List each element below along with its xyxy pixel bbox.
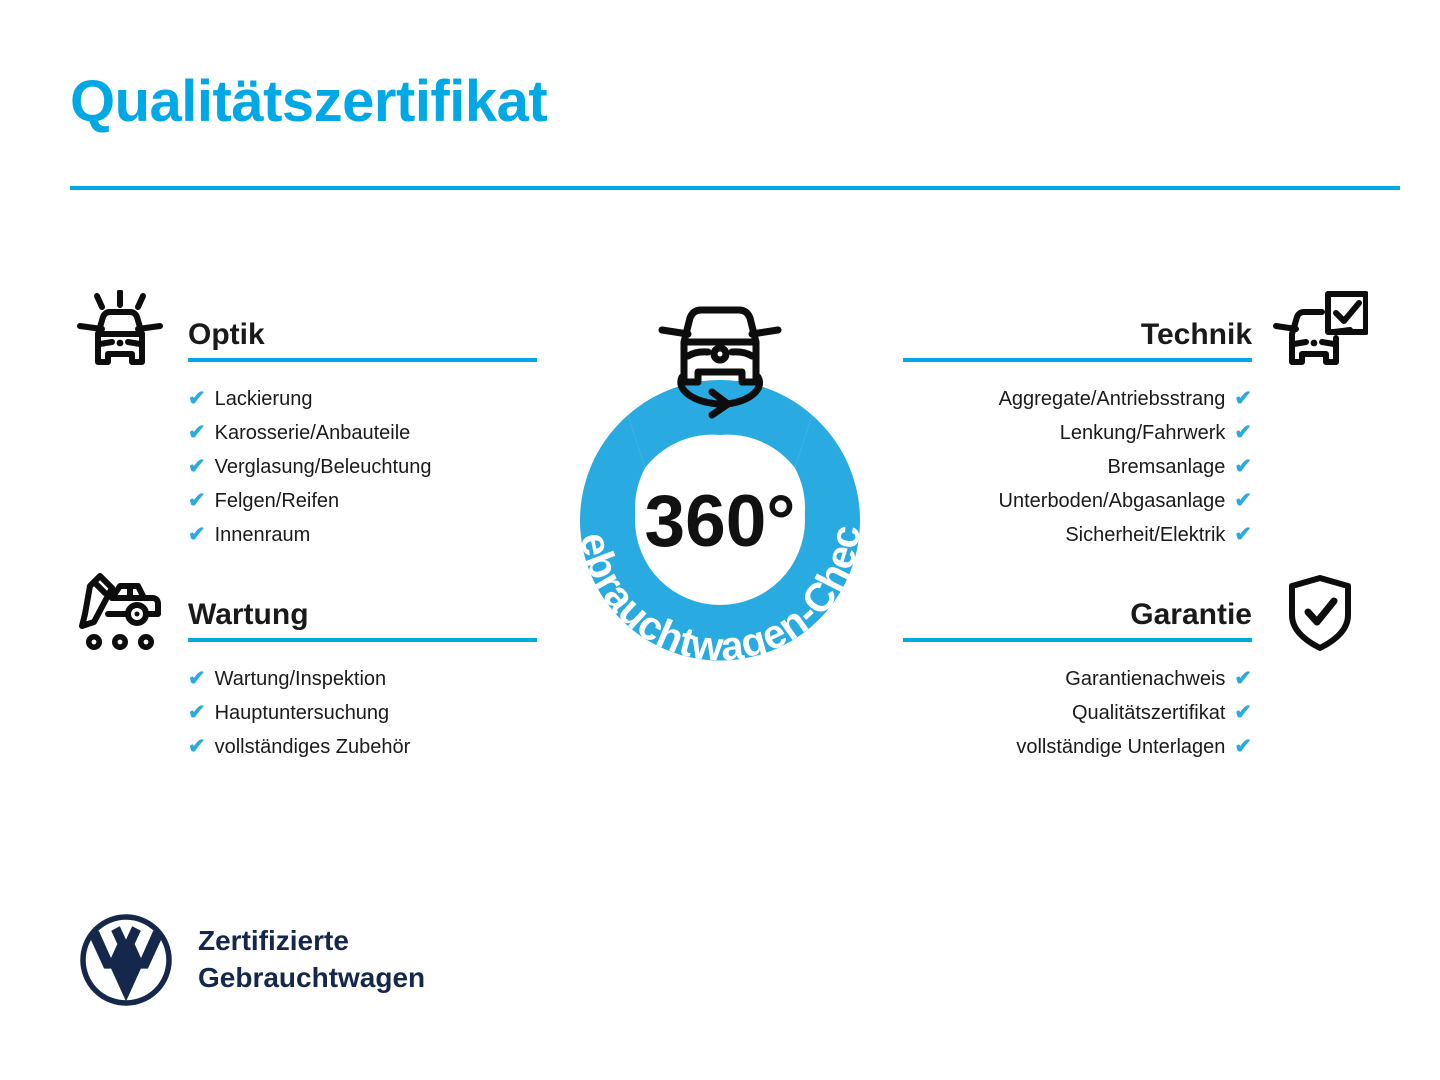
list-item: Aggregate/Antriebsstrang ✔: [903, 382, 1368, 416]
section-header-wartung: Wartung: [72, 576, 537, 642]
service-book-car-icon: [72, 570, 168, 656]
list-item: Garantienachweis ✔: [903, 662, 1368, 696]
list-item-label: vollständige Unterlagen: [1016, 737, 1225, 757]
check-icon: ✔: [1234, 490, 1252, 511]
check-icon: ✔: [188, 736, 206, 757]
shield-check-icon: [1272, 570, 1368, 656]
footer-brand: Zertifizierte Gebrauchtwagen: [78, 912, 425, 1008]
list-item: ✔ Wartung/Inspektion: [72, 662, 537, 696]
check-icon: ✔: [1234, 702, 1252, 723]
list-item: ✔ Lackierung: [72, 382, 537, 416]
list-item-label: Lackierung: [215, 389, 313, 409]
check-icon: ✔: [1234, 422, 1252, 443]
list-item: Lenkung/Fahrwerk ✔: [903, 416, 1368, 450]
footer-brand-text: Zertifizierte Gebrauchtwagen: [198, 923, 425, 997]
list-item: Qualitätszertifikat ✔: [903, 696, 1368, 730]
check-icon: ✔: [1234, 668, 1252, 689]
list-item: vollständige Unterlagen ✔: [903, 730, 1368, 764]
list-item: Sicherheit/Elektrik ✔: [903, 518, 1368, 552]
list-item-label: vollständiges Zubehör: [215, 737, 411, 757]
check-icon: ✔: [188, 524, 206, 545]
list-item: ✔ Verglasung/Beleuchtung: [72, 450, 537, 484]
section-garantie: Garantie Garantienachweis ✔ Qualitätszer…: [903, 576, 1368, 764]
section-divider-wartung: [188, 638, 537, 642]
section-technik: Technik Aggregate/Antriebsstrang ✔ Lenku…: [903, 296, 1368, 552]
check-list-wartung: ✔ Wartung/Inspektion ✔ Hauptuntersuchung…: [72, 662, 537, 764]
list-item: Unterboden/Abgasanlage ✔: [903, 484, 1368, 518]
header-divider: [70, 186, 1400, 190]
list-item: ✔ Felgen/Reifen: [72, 484, 537, 518]
list-item: ✔ Karosserie/Anbauteile: [72, 416, 537, 450]
check-icon: ✔: [188, 668, 206, 689]
page-title: Qualitätszertifikat: [70, 72, 547, 133]
section-divider-garantie: [903, 638, 1252, 642]
list-item-label: Wartung/Inspektion: [215, 669, 387, 689]
list-item: ✔ vollständiges Zubehör: [72, 730, 537, 764]
list-item-label: Bremsanlage: [1108, 457, 1226, 477]
list-item-label: Felgen/Reifen: [215, 491, 340, 511]
list-item-label: Sicherheit/Elektrik: [1065, 525, 1225, 545]
list-item-label: Aggregate/Antriebsstrang: [999, 389, 1226, 409]
section-header-garantie: Garantie: [903, 576, 1368, 642]
vw-logo-icon: [78, 912, 174, 1008]
list-item: ✔ Hauptuntersuchung: [72, 696, 537, 730]
list-item-label: Innenraum: [215, 525, 311, 545]
list-item-label: Qualitätszertifikat: [1072, 703, 1225, 723]
section-header-optik: Optik: [72, 296, 537, 362]
list-item-label: Hauptuntersuchung: [215, 703, 390, 723]
check-icon: ✔: [1234, 524, 1252, 545]
certificate-page: Qualitätszertifikat Optik: [0, 0, 1440, 1080]
check-list-technik: Aggregate/Antriebsstrang ✔ Lenkung/Fahrw…: [903, 382, 1368, 552]
list-item: ✔ Innenraum: [72, 518, 537, 552]
list-item: Bremsanlage ✔: [903, 450, 1368, 484]
list-item-label: Karosserie/Anbauteile: [215, 423, 411, 443]
check-icon: ✔: [1234, 388, 1252, 409]
section-header-technik: Technik: [903, 296, 1368, 362]
section-title-wartung: Wartung: [188, 600, 309, 630]
check-icon: ✔: [188, 702, 206, 723]
check-list-optik: ✔ Lackierung ✔ Karosserie/Anbauteile ✔ V…: [72, 382, 537, 552]
list-item-label: Lenkung/Fahrwerk: [1060, 423, 1226, 443]
check-icon: ✔: [188, 422, 206, 443]
check-icon: ✔: [1234, 456, 1252, 477]
section-title-optik: Optik: [188, 320, 265, 350]
section-optik: Optik ✔ Lackierung ✔ Karosserie/Anbautei…: [72, 296, 537, 552]
list-item-label: Unterboden/Abgasanlage: [999, 491, 1226, 511]
check-icon: ✔: [188, 456, 206, 477]
list-item-label: Garantienachweis: [1065, 669, 1225, 689]
list-item-label: Verglasung/Beleuchtung: [215, 457, 432, 477]
section-wartung: Wartung ✔ Wartung/Inspektion ✔ Hauptunte…: [72, 576, 537, 764]
section-divider-technik: [903, 358, 1252, 362]
section-divider-optik: [188, 358, 537, 362]
check-list-garantie: Garantienachweis ✔ Qualitätszertifikat ✔…: [903, 662, 1368, 764]
section-title-technik: Technik: [1141, 320, 1252, 350]
car-checkbox-icon: [1272, 290, 1368, 376]
check-icon: ✔: [188, 388, 206, 409]
section-title-garantie: Garantie: [1130, 600, 1252, 630]
badge-360-gebrauchtwagen-check: Gebrauchtwagen-Check 360°: [536, 284, 904, 696]
car-shine-icon: [72, 290, 168, 376]
check-icon: ✔: [1234, 736, 1252, 757]
check-icon: ✔: [188, 490, 206, 511]
badge-value: 360°: [645, 481, 796, 562]
